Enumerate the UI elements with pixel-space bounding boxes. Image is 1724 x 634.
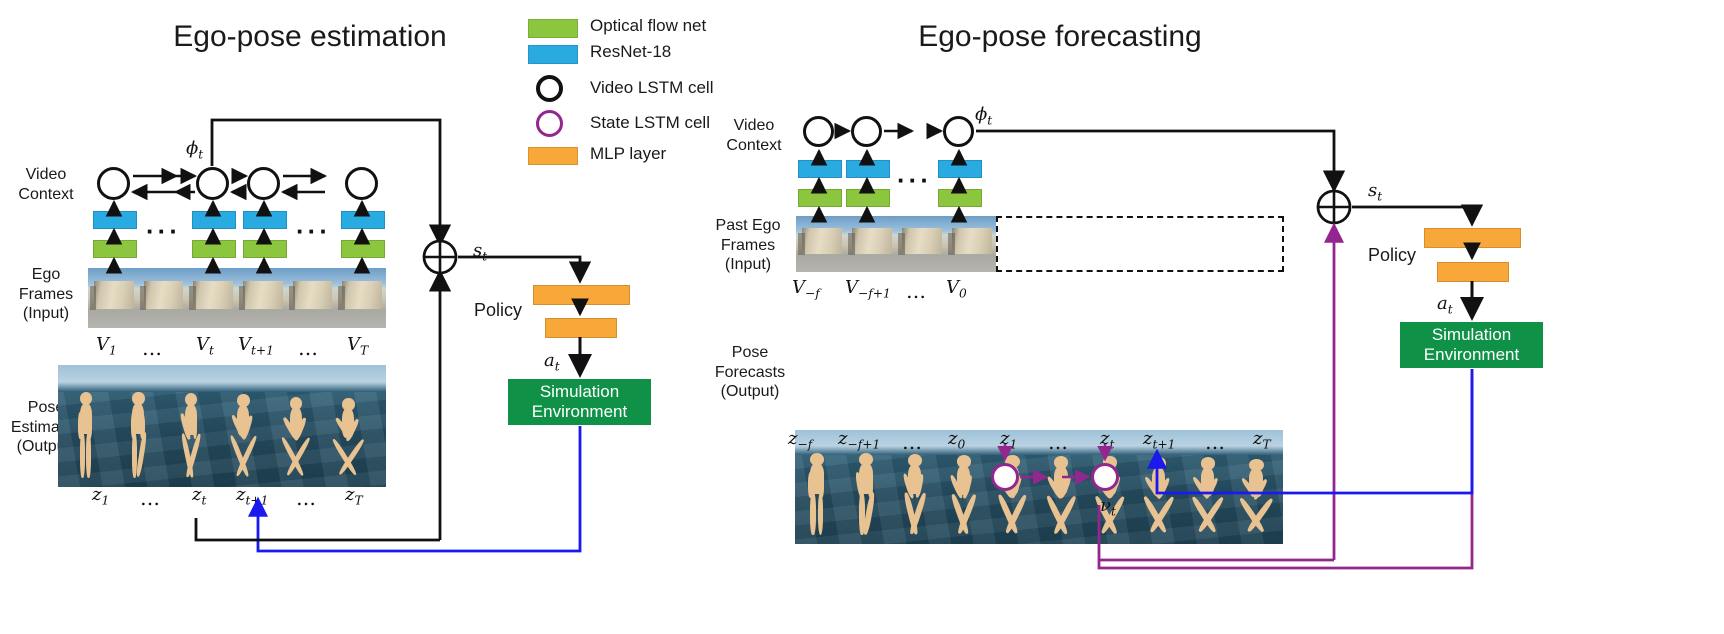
right-optical-flow-block-1 — [798, 189, 842, 207]
right-resnet-block-1 — [798, 160, 842, 178]
pose-figure — [71, 392, 101, 482]
left-resnet-block-4 — [341, 211, 385, 229]
left-frame-label-4: Vt+1 — [238, 334, 274, 358]
pose-figure — [897, 454, 931, 540]
ego-frame — [336, 268, 386, 328]
left-video-lstm-cell-2 — [196, 167, 229, 200]
pose-figure — [1044, 456, 1078, 539]
right-pose-label-2: z−f+1 — [838, 428, 880, 452]
left-mlp-layer-2 — [545, 318, 617, 338]
pose-figure — [124, 392, 154, 482]
right-phi-label: ϕt — [975, 104, 992, 128]
left-policy-label: Policy — [458, 300, 538, 322]
right-policy-label: Policy — [1352, 245, 1432, 267]
left-pose-label-6: zT — [345, 484, 363, 508]
left-video-lstm-cell-4 — [345, 167, 378, 200]
ego-frame — [796, 216, 846, 272]
pose-figure — [281, 397, 311, 482]
left-ego-frames-label: Ego Frames (Input) — [0, 265, 92, 324]
left-pose-label-5: … — [296, 486, 318, 510]
left-frame-label-2: … — [142, 336, 164, 360]
left-optical-flow-block-4 — [341, 240, 385, 258]
ego-frame — [88, 268, 138, 328]
pose-figure — [334, 398, 364, 482]
legend-label-mlp-layer: MLP layer — [590, 144, 666, 164]
legend-swatch-state-lstm-cell — [536, 110, 563, 137]
left-pose-estimates-image — [58, 365, 386, 487]
right-state-lstm-cell-1 — [991, 463, 1019, 491]
right-pose-label-9: … — [1205, 430, 1227, 454]
right-mlp-layer-2 — [1437, 262, 1509, 282]
pose-figure — [229, 394, 259, 482]
left-resnet-block-1 — [93, 211, 137, 229]
right-video-lstm-cell-3 — [943, 116, 974, 147]
left-ego-frames-strip — [88, 268, 386, 328]
right-pose-label-7: zt — [1100, 428, 1114, 452]
right-resnet-block-2 — [846, 160, 890, 178]
left-blocks-ellipsis-1: ··· — [146, 216, 181, 247]
right-state-lstm-cell-2 — [1091, 463, 1119, 491]
right-optical-flow-block-3 — [938, 189, 982, 207]
legend-label-video-lstm-cell: Video LSTM cell — [590, 78, 713, 98]
right-pose-label-8: zt+1 — [1143, 428, 1175, 452]
right-frame-label-2: V−f+1 — [845, 277, 891, 301]
right-pose-label-5: z1 — [1000, 428, 1017, 452]
right-panel-title: Ego-pose forecasting — [810, 20, 1310, 54]
left-frame-label-1: V1 — [96, 334, 117, 358]
legend-swatch-mlp-layer — [528, 147, 578, 165]
ego-frame — [237, 268, 287, 328]
pose-figure — [1239, 459, 1273, 540]
left-pose-label-2: … — [140, 486, 162, 510]
right-past-ego-frames-strip — [796, 216, 996, 272]
left-mlp-layer-1 — [533, 285, 630, 305]
left-optical-flow-block-3 — [243, 240, 287, 258]
left-optical-flow-block-2 — [192, 240, 236, 258]
pose-figure — [176, 393, 206, 482]
right-frame-label-4: V0 — [946, 277, 967, 301]
legend-swatch-video-lstm-cell — [536, 75, 563, 102]
right-video-context-label: Video Context — [708, 116, 800, 155]
left-pose-label-3: zt — [192, 484, 206, 508]
left-pose-label-1: z1 — [92, 484, 109, 508]
legend-swatch-resnet18 — [528, 45, 578, 64]
right-pose-label-1: z−f — [788, 428, 812, 452]
left-simulation-environment: Simulation Environment — [508, 379, 651, 425]
left-phi-label: ϕt — [186, 138, 203, 162]
left-video-context-label: Video Context — [0, 165, 92, 204]
right-pose-label-6: … — [1048, 430, 1070, 454]
left-panel-title: Ego-pose estimation — [100, 20, 520, 54]
left-video-lstm-cell-1 — [97, 167, 130, 200]
right-pose-label-4: z0 — [948, 428, 965, 452]
right-pose-forecasts-label: Pose Forecasts (Output) — [700, 343, 800, 402]
right-mlp-layer-1 — [1424, 228, 1521, 248]
right-nu-label: νt — [1100, 495, 1116, 519]
pose-figure — [800, 453, 834, 540]
legend-label-optical-flow-net: Optical flow net — [590, 16, 706, 36]
ego-frame — [896, 216, 946, 272]
right-video-lstm-cell-2 — [851, 116, 882, 147]
legend-label-state-lstm-cell: State LSTM cell — [590, 113, 710, 133]
left-resnet-block-2 — [192, 211, 236, 229]
ego-frame — [846, 216, 896, 272]
pose-figure — [946, 455, 980, 539]
right-future-frames-placeholder — [996, 216, 1284, 272]
ego-frame — [946, 216, 996, 272]
left-resnet-block-3 — [243, 211, 287, 229]
left-a-label: at — [544, 350, 560, 374]
left-frame-label-5: … — [298, 336, 320, 360]
right-blocks-ellipsis: ··· — [897, 165, 932, 196]
right-resnet-block-3 — [938, 160, 982, 178]
right-past-ego-frames-label: Past Ego Frames (Input) — [696, 216, 800, 275]
left-video-lstm-cell-3 — [247, 167, 280, 200]
right-a-label: at — [1437, 293, 1453, 317]
left-optical-flow-block-1 — [93, 240, 137, 258]
right-optical-flow-block-2 — [846, 189, 890, 207]
left-frame-label-3: Vt — [196, 334, 214, 358]
right-s-label: st — [1368, 180, 1382, 204]
right-frame-label-1: V−f — [792, 277, 820, 301]
pose-figure — [1141, 457, 1175, 539]
left-blocks-ellipsis-2: ··· — [296, 216, 331, 247]
ego-frame — [187, 268, 237, 328]
left-frame-label-6: VT — [347, 334, 368, 358]
legend-label-resnet18: ResNet-18 — [590, 42, 671, 62]
right-frame-label-3: … — [906, 279, 928, 303]
pose-figure — [1190, 457, 1224, 539]
ego-frame — [138, 268, 188, 328]
pose-figure — [849, 453, 883, 540]
right-video-lstm-cell-1 — [803, 116, 834, 147]
legend-swatch-optical-flow-net — [528, 19, 578, 38]
right-simulation-environment: Simulation Environment — [1400, 322, 1543, 368]
ego-frame — [287, 268, 337, 328]
left-pose-label-4: zt+1 — [236, 484, 268, 508]
left-s-label: st — [473, 240, 487, 264]
right-pose-label-10: zT — [1253, 428, 1271, 452]
right-pose-label-3: … — [902, 430, 924, 454]
